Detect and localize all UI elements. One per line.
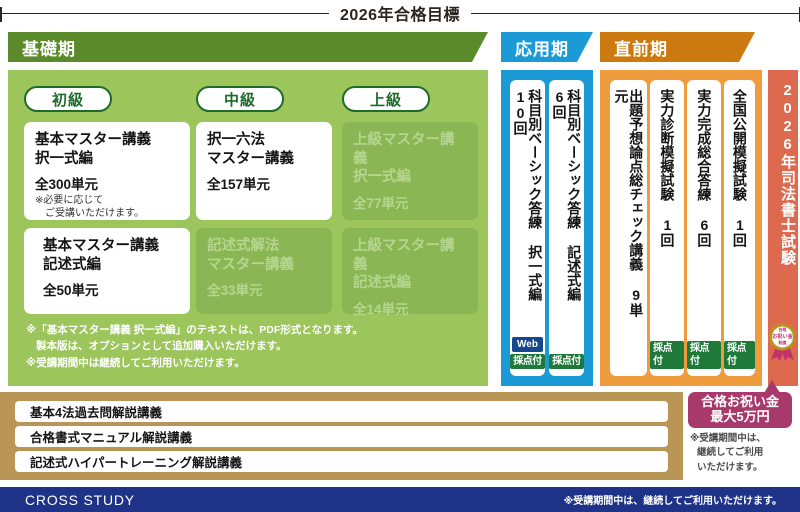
level-pill-intermediate: 中級 bbox=[196, 86, 284, 112]
course-units: 全300単元 bbox=[35, 173, 179, 193]
bonus-callout: 合格お祝い金 最大5万円 bbox=[688, 392, 792, 428]
course-column-title: 全国公開模擬試験 1回 bbox=[732, 89, 747, 247]
course-column-title: 実力完成総合答練 6回 bbox=[697, 89, 712, 247]
extra-lecture-label: 合格書式マニュアル解説講義 bbox=[30, 427, 192, 446]
web-badge: Web bbox=[512, 337, 543, 352]
scoring-badge: 採点付 bbox=[724, 341, 755, 369]
course-units: 全50単元 bbox=[35, 279, 179, 299]
course-column-title: 科目別ベーシック答練 記述式編 6回 bbox=[552, 89, 581, 329]
extra-lecture-label: 基本4法過去問解説講義 bbox=[30, 402, 162, 421]
bonus-callout-line1: 合格お祝い金 bbox=[701, 395, 779, 410]
brand-logo: CROSS STUDY bbox=[0, 492, 135, 508]
svg-text:合格: 合格 bbox=[779, 326, 788, 332]
panel-basic-phase: 初級 中級 上級 基本マスター講義択一式編 全300単元 ※必要に応じて ご受講… bbox=[8, 70, 488, 386]
course-column[interactable]: 実力完成総合答練 6回 採点付 bbox=[687, 80, 721, 376]
course-column[interactable]: 科目別ベーシック答練 記述式編 6回 採点付 bbox=[549, 80, 584, 376]
level-pill-advanced-label: 上級 bbox=[370, 89, 402, 110]
award-seal-icon: 合格 お祝い金 制度 bbox=[766, 322, 799, 362]
course-column-title: 出題予想論点総チェック講義 9単元 bbox=[614, 89, 643, 329]
course-card[interactable]: 上級マスター講義択一式編 全77単元 bbox=[342, 122, 478, 220]
footer-bar: CROSS STUDY ※受講期間中は、継続してご利用いただけます。 bbox=[0, 487, 800, 512]
footer-note: ※受講期間中は、継続してご利用いただけます。 bbox=[564, 492, 800, 507]
phase-banner-kiso: 基礎期 bbox=[8, 32, 488, 62]
course-badges: 採点付 bbox=[724, 341, 755, 369]
curriculum-diagram: 2026年合格目標 基礎期 応用期 直前期 初級 中級 上級 基本マスター講義択… bbox=[0, 0, 800, 512]
extra-lecture-row[interactable]: 基本4法過去問解説講義 bbox=[15, 401, 668, 422]
course-title: 基本マスター講義記述式編 bbox=[35, 237, 179, 274]
extra-lecture-row[interactable]: 記述式ハイパートレーニング解説講義 bbox=[15, 451, 668, 472]
course-title: 上級マスター講義記述式編 bbox=[353, 237, 467, 293]
level-pill-row: 初級 中級 上級 bbox=[8, 86, 488, 112]
course-badges: 採点付 bbox=[650, 341, 684, 369]
course-note: ※必要に応じて ご受講いただけます。 bbox=[35, 195, 179, 220]
level-pill-beginner-label: 初級 bbox=[52, 89, 84, 110]
extra-lecture-row[interactable]: 合格書式マニュアル解説講義 bbox=[15, 426, 668, 447]
course-badges: 採点付 bbox=[549, 354, 584, 369]
course-title: 択一六法マスター講義 bbox=[207, 131, 321, 168]
bonus-note: ※受講期間中は、 継続してご利用 いただけます。 bbox=[690, 432, 795, 475]
course-badges: Web 採点付 bbox=[510, 337, 545, 369]
basic-note-line: ※「基本マスター講義 択一式編」のテキストは、PDF形式となります。 bbox=[26, 322, 478, 338]
goal-title: 2026年合格目標 bbox=[329, 1, 471, 25]
level-pill-advanced: 上級 bbox=[342, 86, 430, 112]
bonus-note-line: 継続してご利用 bbox=[690, 446, 795, 460]
panel-applied-phase: 科目別ベーシック答練 択一式編 10回 Web 採点付 科目別ベーシック答練 記… bbox=[501, 70, 593, 386]
course-title: 基本マスター講義択一式編 bbox=[35, 131, 179, 168]
phase-banner-ouyou-label: 応用期 bbox=[515, 35, 569, 60]
phase-banner-choku-label: 直前期 bbox=[614, 35, 668, 60]
course-units: 全33単元 bbox=[207, 279, 321, 299]
panel-final-phase: 出題予想論点総チェック講義 9単元 実力診断模擬試験 1回 採点付 実力完成総合… bbox=[600, 70, 762, 386]
svg-text:お祝い金: お祝い金 bbox=[772, 332, 794, 340]
course-column[interactable]: 実力診断模擬試験 1回 採点付 bbox=[650, 80, 684, 376]
exam-title: 2026年司法書士試験 bbox=[768, 82, 798, 332]
goal-rule-left bbox=[0, 13, 329, 14]
basic-phase-notes: ※「基本マスター講義 択一式編」のテキストは、PDF形式となります。 製本版は、… bbox=[26, 322, 478, 371]
course-title: 上級マスター講義択一式編 bbox=[353, 131, 467, 187]
course-column-title: 科目別ベーシック答練 択一式編 10回 bbox=[513, 89, 542, 329]
course-badges: 採点付 bbox=[687, 341, 721, 369]
basic-note-line: ※受講期間中は継続してご利用いただけます。 bbox=[26, 355, 478, 371]
course-column[interactable]: 出題予想論点総チェック講義 9単元 bbox=[610, 80, 647, 376]
scoring-badge: 採点付 bbox=[650, 341, 684, 369]
course-card[interactable]: 上級マスター講義記述式編 全14単元 bbox=[342, 228, 478, 314]
scoring-badge: 採点付 bbox=[549, 354, 584, 369]
course-units: 全77単元 bbox=[353, 192, 467, 212]
course-units: 全157単元 bbox=[207, 173, 321, 193]
goal-rule-right bbox=[471, 13, 800, 14]
svg-text:制度: 制度 bbox=[779, 339, 788, 345]
extra-lecture-label: 記述式ハイパートレーニング解説講義 bbox=[30, 452, 242, 471]
scoring-badge: 採点付 bbox=[687, 341, 721, 369]
course-column-title: 実力診断模擬試験 1回 bbox=[660, 89, 675, 247]
goal-title-bar: 2026年合格目標 bbox=[0, 0, 800, 26]
course-title: 記述式解法マスター講義 bbox=[207, 237, 321, 274]
course-column[interactable]: 全国公開模擬試験 1回 採点付 bbox=[724, 80, 755, 376]
panel-extra-lectures: 基本4法過去問解説講義 合格書式マニュアル解説講義 記述式ハイパートレーニング解… bbox=[0, 392, 683, 480]
course-card[interactable]: 記述式解法マスター講義 全33単元 bbox=[196, 228, 332, 314]
bonus-note-line: ※受講期間中は、 bbox=[690, 432, 795, 446]
course-units: 全14単元 bbox=[353, 298, 467, 318]
phase-banner-ouyou: 応用期 bbox=[501, 32, 593, 62]
course-card[interactable]: 基本マスター講義択一式編 全300単元 ※必要に応じて ご受講いただけます。 bbox=[24, 122, 190, 220]
bonus-callout-line2: 最大5万円 bbox=[710, 410, 769, 425]
course-column[interactable]: 科目別ベーシック答練 択一式編 10回 Web 採点付 bbox=[510, 80, 545, 376]
level-pill-intermediate-label: 中級 bbox=[224, 89, 256, 110]
scoring-badge: 採点付 bbox=[510, 354, 545, 369]
bonus-note-line: いただけます。 bbox=[690, 461, 795, 475]
phase-banner-kiso-label: 基礎期 bbox=[22, 35, 76, 60]
phase-banner-choku: 直前期 bbox=[600, 32, 755, 62]
course-card[interactable]: 基本マスター講義記述式編 全50単元 bbox=[24, 228, 190, 314]
course-card[interactable]: 択一六法マスター講義 全157単元 bbox=[196, 122, 332, 220]
basic-note-line: 製本版は、オプションとして追加購入いただけます。 bbox=[26, 338, 478, 354]
level-pill-beginner: 初級 bbox=[24, 86, 112, 112]
